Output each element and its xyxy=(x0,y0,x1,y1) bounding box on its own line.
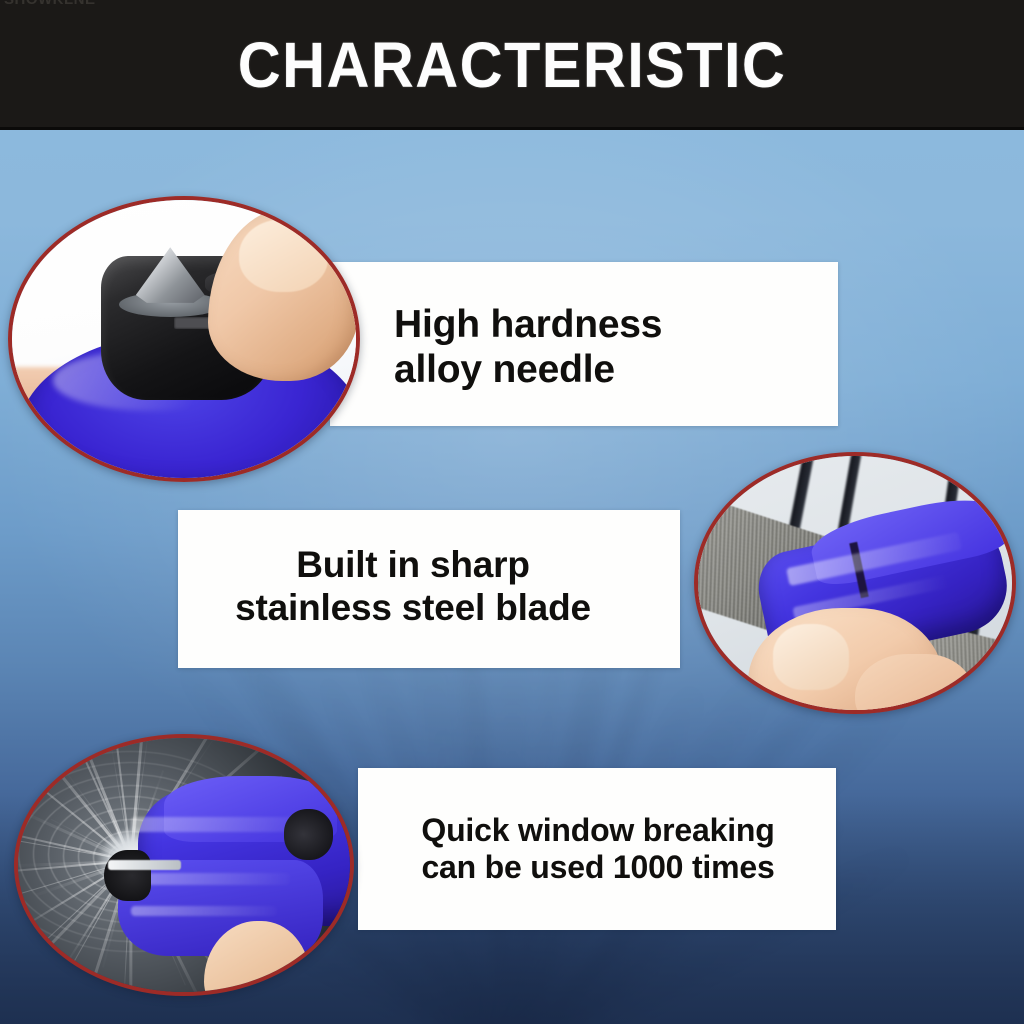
feature-label-needle: High hardness alloy needle xyxy=(394,302,662,392)
feature-callout-blade: Built in sharp stainless steel blade xyxy=(178,510,680,668)
thumbnail-shape xyxy=(773,624,848,690)
needle-closeup-photo xyxy=(8,196,360,482)
tool-highlight xyxy=(131,906,277,916)
hammer-tip-point xyxy=(108,860,181,870)
feature-callout-needle: High hardness alloy needle xyxy=(330,262,838,426)
page-title: CHARACTERISTIC xyxy=(36,33,988,97)
header-banner: SHOWKLNE CHARACTERISTIC xyxy=(0,0,1024,130)
cutter-photo-scene xyxy=(698,456,1012,710)
seatbelt-cutter-photo xyxy=(694,452,1016,714)
watermark-text: SHOWKLNE xyxy=(4,0,96,8)
feature-callout-window-breaking: Quick window breaking can be used 1000 t… xyxy=(358,768,836,930)
glass-photo-scene xyxy=(18,738,350,992)
hammer-tip-housing xyxy=(104,850,150,901)
infographic-canvas: SHOWKLNE CHARACTERISTIC High hardness al… xyxy=(0,0,1024,1024)
feature-label-window-breaking: Quick window breaking can be used 1000 t… xyxy=(380,812,816,886)
hammer-rear-cap xyxy=(284,809,334,860)
needle-photo-scene xyxy=(12,200,356,478)
broken-glass-photo xyxy=(14,734,354,996)
feature-label-blade: Built in sharp stainless steel blade xyxy=(178,544,648,630)
thumbnail-shape xyxy=(239,219,328,291)
